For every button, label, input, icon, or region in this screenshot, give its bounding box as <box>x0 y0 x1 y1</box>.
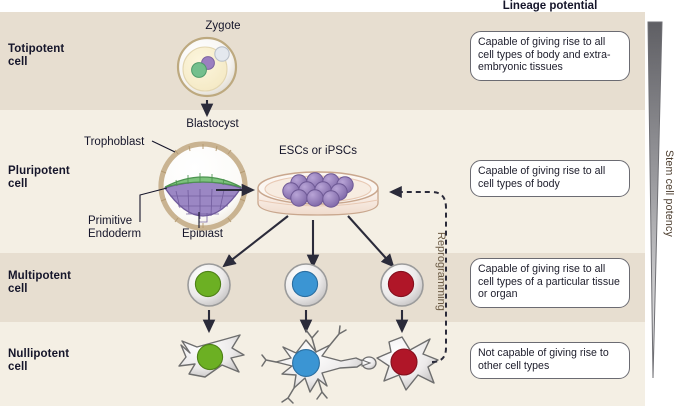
stage-label-pluripotent-line2: cell <box>8 178 28 190</box>
lineage-potential-heading: Lineage potential <box>470 0 630 12</box>
esc-ipsc-label: ESCs or iPSCs <box>258 145 378 158</box>
figure-canvas: Lineage potential Totipotent cell Plurip… <box>0 0 685 406</box>
reprogramming-label: Reprogramming <box>434 232 447 311</box>
trophoblast-label: Trophoblast <box>84 136 144 149</box>
stage-label-nullipotent-line1: Nullipotent <box>8 348 69 360</box>
stage-label-multipotent: Multipotent cell <box>8 270 71 296</box>
blastocyst-label: Blastocyst <box>155 118 270 131</box>
stage-label-totipotent-line2: cell <box>8 56 28 68</box>
stage-label-multipotent-line1: Multipotent <box>8 270 71 282</box>
stage-label-totipotent: Totipotent cell <box>8 43 64 69</box>
stage-label-pluripotent-line1: Pluripotent <box>8 165 70 177</box>
callout-multipotent: Capable of giving rise to all cell types… <box>470 258 630 308</box>
primitive-endoderm-line1: Primitive <box>88 215 132 227</box>
stem-cell-potency-wedge <box>648 22 662 378</box>
primitive-endoderm-label: Primitive Endoderm <box>88 215 141 241</box>
primitive-endoderm-line2: Endoderm <box>88 228 141 240</box>
stage-label-nullipotent: Nullipotent cell <box>8 348 69 374</box>
zygote-label: Zygote <box>168 20 278 33</box>
epiblast-label: Epiblast <box>182 228 223 241</box>
stage-label-pluripotent: Pluripotent cell <box>8 165 70 191</box>
callout-nullipotent: Not capable of giving rise to other cell… <box>470 342 630 379</box>
stem-cell-potency-label: Stem cell potency <box>663 150 675 237</box>
stage-label-nullipotent-line2: cell <box>8 361 28 373</box>
stage-label-totipotent-line1: Totipotent <box>8 43 64 55</box>
stage-label-multipotent-line2: cell <box>8 283 28 295</box>
callout-pluripotent: Capable of giving rise to all cell types… <box>470 160 630 197</box>
callout-totipotent: Capable of giving rise to all cell types… <box>470 31 630 81</box>
